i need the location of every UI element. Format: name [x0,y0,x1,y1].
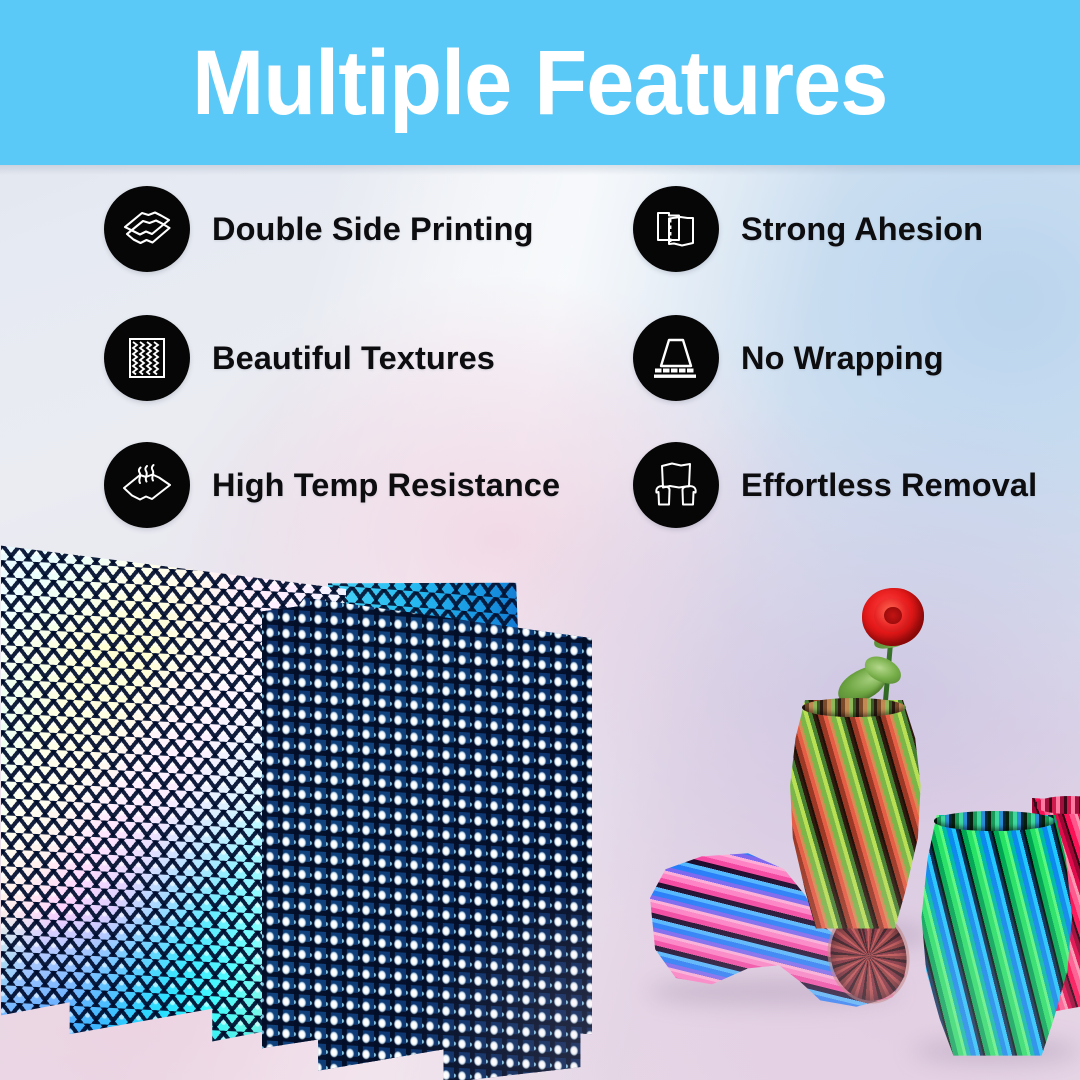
trapezoid-on-bed-icon [633,315,719,401]
feature-label: Double Side Printing [212,213,534,246]
feature-label: High Temp Resistance [212,469,560,502]
hands-flex-sheet-icon [633,442,719,528]
header-banner-shadow [0,165,1080,175]
printed-vase-green-blue [920,815,1072,1058]
vase-body [920,815,1072,1058]
feature-list: Double Side Printing Beautiful Textures [0,186,1080,546]
overlapping-sheets-icon [633,186,719,272]
vase-rim [802,698,905,717]
vase-rim [934,811,1056,830]
feature-label: Strong Ahesion [741,213,983,246]
feature-label: Beautiful Textures [212,342,495,375]
header-banner: Multiple Features [0,0,1080,165]
vase-body [786,700,922,938]
heat-waves-plate-icon [104,442,190,528]
feature-item-double-side-printing: Double Side Printing [104,186,534,272]
product-feature-image: Multiple Features Double Side Printing [0,0,1080,1080]
build-plate-blue-bead [262,592,592,1080]
feature-item-no-wrapping: No Wrapping [633,315,944,401]
zigzag-texture-icon [104,315,190,401]
product-photo [0,530,1080,1080]
feature-item-strong-ahesion: Strong Ahesion [633,186,983,272]
feature-item-effortless-removal: Effortless Removal [633,442,1037,528]
stacked-sheets-icon [104,186,190,272]
feature-label: Effortless Removal [741,469,1037,502]
feature-item-beautiful-textures: Beautiful Textures [104,315,495,401]
feature-label: No Wrapping [741,342,944,375]
feature-item-high-temp-resistance: High Temp Resistance [104,442,560,528]
red-rose-icon [862,588,924,646]
rose-petal-core [884,607,901,624]
plate-texture-beads [262,592,592,1080]
printed-vase-with-rose [786,700,922,938]
page-title: Multiple Features [192,37,887,129]
